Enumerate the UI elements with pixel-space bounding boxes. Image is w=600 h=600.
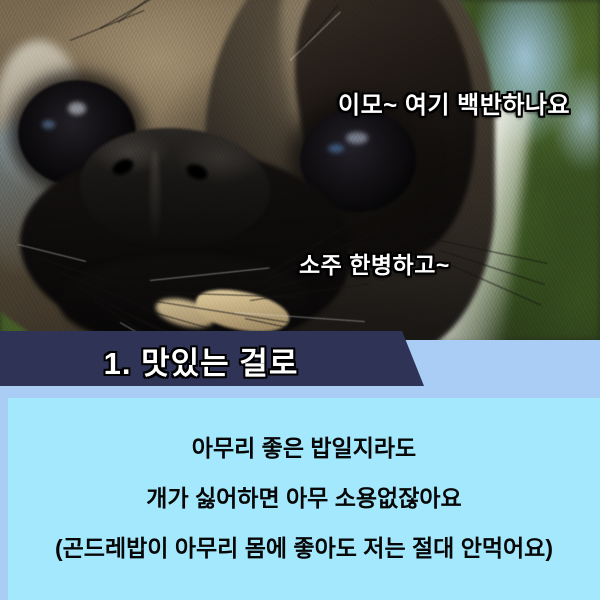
eye-glint-secondary (42, 120, 55, 129)
band-title-text: 1. 맛있는 걸로 (0, 338, 402, 383)
body-line-1: 아무리 좋은 밥일지라도 (192, 429, 416, 463)
body-line-2: 개가 싫어하면 아무 소용없잖아요 (146, 479, 461, 513)
photo-caption-top: 이모~ 여기 백반하나요 (338, 85, 570, 120)
body-text-block: 아무리 좋은 밥일지라도 개가 싫어하면 아무 소용없잖아요 (곤드레밥이 아무… (8, 398, 600, 600)
infographic-card: 이모~ 여기 백반하나요 소주 한병하고~ 1. 맛있는 걸로 아무리 좋은 밥… (0, 0, 600, 600)
photo-caption-middle: 소주 한병하고~ (299, 246, 450, 280)
pug-photo: 이모~ 여기 백반하나요 소주 한병하고~ (0, 0, 600, 340)
dog-nose-ridge (150, 150, 160, 245)
body-line-3: (곤드레밥이 아무리 몸에 좋아도 저는 절대 안먹어요) (55, 529, 553, 563)
eye-glint-secondary (328, 144, 344, 153)
eye-glint (346, 132, 368, 144)
eye-glint (68, 102, 86, 115)
